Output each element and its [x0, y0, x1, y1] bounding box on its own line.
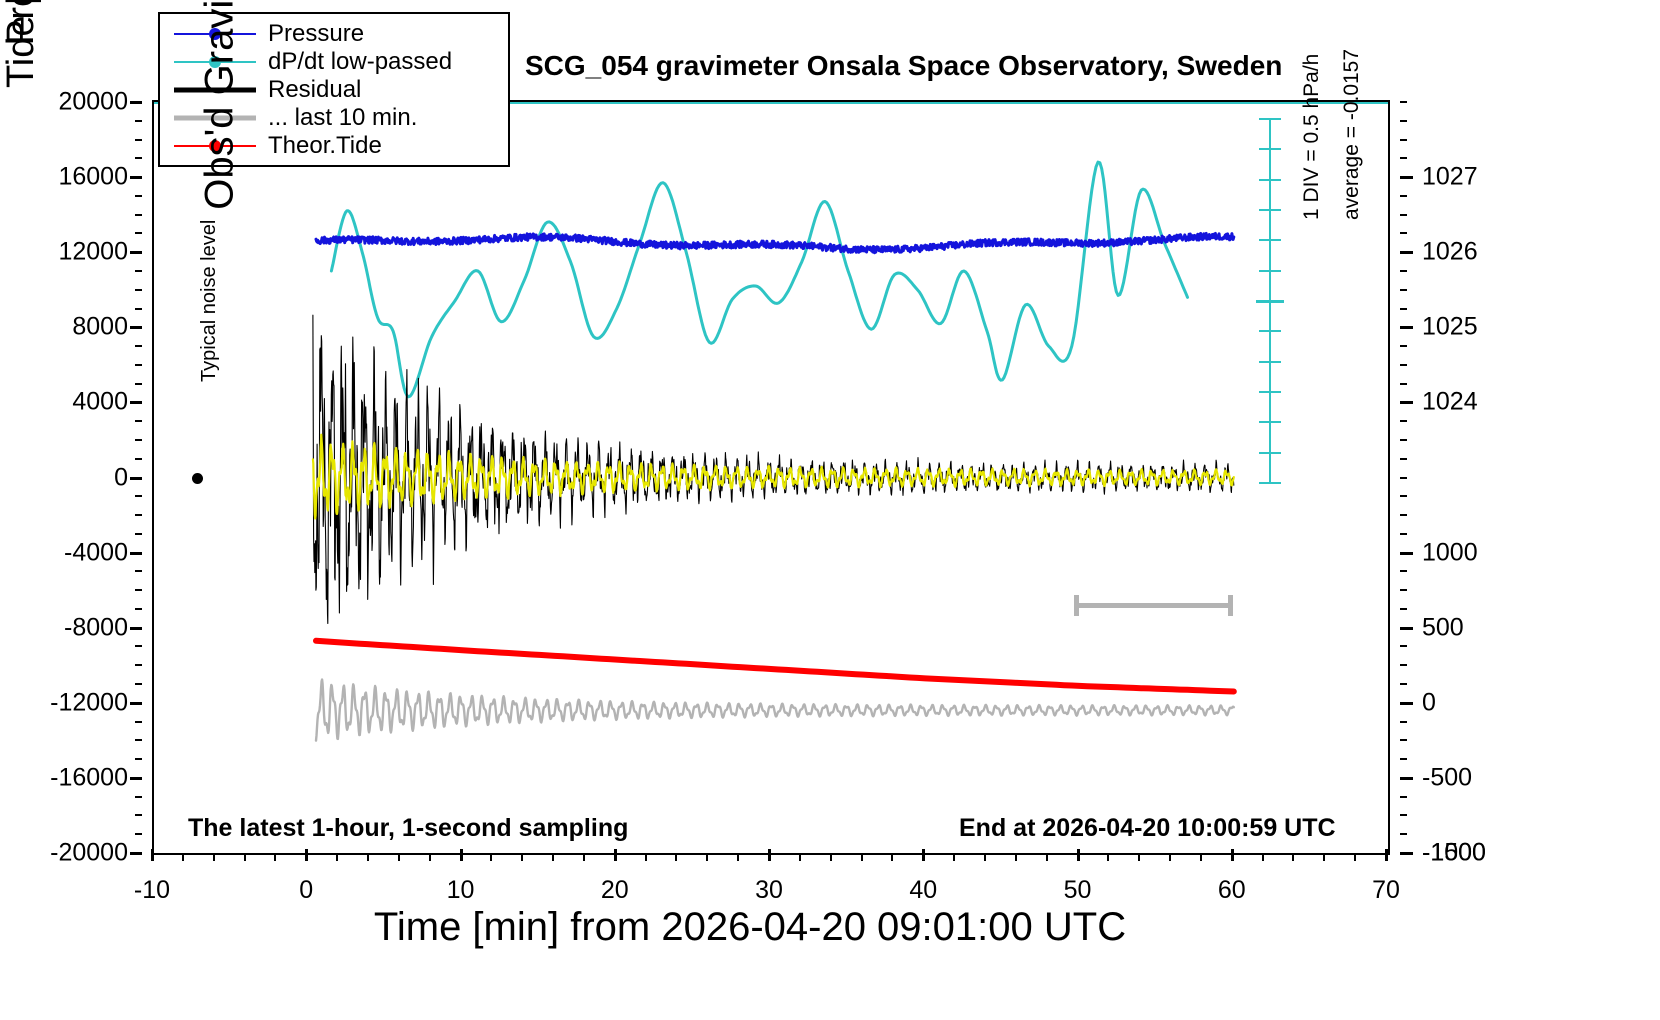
tide-tick-label: -500 [1422, 763, 1472, 792]
x-minor-tick [1323, 854, 1325, 861]
y-tick-mark [130, 251, 142, 254]
y-right-minor-tick [1400, 683, 1407, 685]
x-minor-tick [953, 854, 955, 861]
series-pressure [316, 233, 1234, 252]
legend-item-label: dP/dt low-passed [256, 48, 452, 76]
y-tick-mark [130, 627, 142, 630]
x-tick-label: 30 [755, 876, 783, 905]
x-tick-mark [151, 849, 154, 861]
legend-item-label: ... last 10 min. [256, 104, 417, 132]
x-minor-tick [274, 854, 276, 861]
y-axis-left-label: Obs'd Gravity [nm/s²] [198, 0, 243, 243]
x-minor-tick [706, 854, 708, 861]
dpdt-scale-tick [1259, 179, 1281, 181]
y-right-minor-tick [1400, 533, 1407, 535]
y-right-minor-tick [1400, 345, 1407, 347]
y-minor-tick [135, 270, 142, 272]
y-right-minor-tick [1400, 570, 1407, 572]
series-theoretical-tide [316, 641, 1234, 692]
y-tick-label: -4000 [64, 538, 128, 567]
dpdt-scale-tick [1259, 330, 1281, 332]
x-minor-tick [429, 854, 431, 861]
y-right-minor-tick [1400, 608, 1407, 610]
pressure-tick-label: 1026 [1422, 238, 1478, 267]
y-tick-mark [130, 552, 142, 555]
y-tick-mark [130, 477, 142, 480]
y-tick-mark [130, 101, 142, 104]
tide-tick-label: 500 [1422, 613, 1464, 642]
y-right-minor-tick [1400, 439, 1407, 441]
y-minor-tick [135, 232, 142, 234]
y-axis-left-ticks: 200001600012000800040000-4000-8000-12000… [0, 100, 142, 855]
y-right-minor-tick [1400, 195, 1407, 197]
x-tick-mark [1231, 849, 1234, 861]
pressure-tick-label: 1025 [1422, 313, 1478, 342]
y-right-minor-tick [1400, 758, 1407, 760]
y-right-minor-tick [1400, 589, 1407, 591]
y-right-minor-tick [1400, 477, 1407, 479]
x-tick-mark [768, 849, 771, 861]
y-minor-tick [135, 833, 142, 835]
dpdt-scale-tick [1259, 209, 1281, 211]
x-minor-tick [1015, 854, 1017, 861]
x-minor-tick [1046, 854, 1048, 861]
ten-minute-scale-bar [1074, 603, 1233, 608]
y-right-minor-tick [1400, 101, 1407, 103]
x-minor-tick [645, 854, 647, 861]
y-tick-mark [130, 852, 142, 855]
x-tick-label: 10 [447, 876, 475, 905]
y-tick-label: -12000 [50, 688, 128, 717]
pressure-tick-label: 1024 [1422, 388, 1478, 417]
x-tick-mark [922, 849, 925, 861]
series-canvas [154, 102, 1388, 853]
x-minor-tick [1262, 854, 1264, 861]
y-right-minor-tick [1400, 214, 1407, 216]
x-minor-tick [675, 854, 677, 861]
y-minor-tick [135, 608, 142, 610]
y-minor-tick [135, 439, 142, 441]
pressure-tick-label: 1027 [1422, 163, 1478, 192]
x-tick-label: 60 [1218, 876, 1246, 905]
y-tick-label: 0 [114, 463, 128, 492]
dpdt-scale-tick [1259, 270, 1281, 272]
y-minor-tick [135, 289, 142, 291]
y-right-minor-tick [1400, 383, 1407, 385]
x-minor-tick [891, 854, 893, 861]
x-minor-tick [1107, 854, 1109, 861]
x-minor-tick [490, 854, 492, 861]
series-dpdt-lowpassed [331, 162, 1187, 397]
legend-item-label: Pressure [256, 20, 364, 48]
y-right-minor-tick [1400, 289, 1407, 291]
y-minor-tick [135, 570, 142, 572]
dpdt-scale-tick [1259, 118, 1281, 120]
x-minor-tick [1169, 854, 1171, 861]
x-tick-mark [305, 849, 308, 861]
y-minor-tick [135, 739, 142, 741]
tide-tick-label: 1000 [1422, 538, 1478, 567]
dpdt-scale-tick [1259, 391, 1281, 393]
y-tick-label: 12000 [58, 238, 128, 267]
y-minor-tick [135, 120, 142, 122]
dpdt-scale-tick [1256, 300, 1284, 303]
y-right-minor-tick [1400, 120, 1407, 122]
y-right-minor-tick [1400, 157, 1407, 159]
legend-item-label: Residual [256, 76, 361, 104]
y-right-minor-tick [1400, 721, 1407, 723]
y-minor-tick [135, 645, 142, 647]
y-right-minor-tick [1400, 796, 1407, 798]
y-right-minor-tick [1400, 514, 1407, 516]
x-tick-label: 0 [299, 876, 313, 905]
x-minor-tick [336, 854, 338, 861]
end-time-note: End at 2026-04-20 10:00:59 UTC [959, 814, 1336, 843]
dpdt-scale-tick [1259, 361, 1281, 363]
y-tick-mark [130, 777, 142, 780]
y-minor-tick [135, 214, 142, 216]
y-axis-tide-label: Tide [nm/s²] [0, 0, 43, 88]
page-title: SCG_054 gravimeter Onsala Space Observat… [525, 50, 1282, 82]
y-minor-tick [135, 664, 142, 666]
x-minor-tick [799, 854, 801, 861]
y-minor-tick [135, 139, 142, 141]
x-minor-tick [367, 854, 369, 861]
y-right-minor-tick [1400, 495, 1407, 497]
y-right-minor-tick [1400, 645, 1407, 647]
x-tick-label: 50 [1064, 876, 1092, 905]
typical-noise-dot [192, 473, 203, 484]
x-minor-tick [984, 854, 986, 861]
y-tick-label: 16000 [58, 163, 128, 192]
tide-tick-label: -1500 [1422, 839, 1486, 868]
legend-item-label: Theor.Tide [256, 132, 382, 160]
y-right-minor-tick [1400, 364, 1407, 366]
y-right-minor-tick [1400, 401, 1407, 403]
y-right-minor-tick [1400, 176, 1407, 178]
y-tick-label: 4000 [72, 388, 128, 417]
y-right-minor-tick [1400, 420, 1407, 422]
y-minor-tick [135, 195, 142, 197]
dpdt-scale-division-label: 1 DIV = 0.5 hPa/h [1300, 54, 1324, 220]
y-minor-tick [135, 345, 142, 347]
y-right-minor-tick [1400, 664, 1407, 666]
y-minor-tick [135, 796, 142, 798]
dpdt-scale-bar [1269, 118, 1271, 482]
y-minor-tick [135, 458, 142, 460]
y-minor-tick [135, 514, 142, 516]
x-minor-tick [861, 854, 863, 861]
x-minor-tick [1354, 854, 1356, 861]
x-tick-label: 20 [601, 876, 629, 905]
y-minor-tick [135, 383, 142, 385]
x-minor-tick [552, 854, 554, 861]
y-minor-tick [135, 533, 142, 535]
x-axis-ticks: -10010203040506070 [152, 862, 1390, 902]
x-minor-tick [244, 854, 246, 861]
y-right-minor-tick [1400, 702, 1407, 704]
y-axis-right-ticks: 102710261025102410005000-500-1000-1500 [1400, 100, 1520, 855]
y-tick-mark [130, 326, 142, 329]
y-tick-label: -8000 [64, 613, 128, 642]
x-minor-tick [1292, 854, 1294, 861]
x-tick-label: 70 [1372, 876, 1400, 905]
y-tick-label: -16000 [50, 763, 128, 792]
dpdt-scale-tick [1259, 239, 1281, 241]
y-right-minor-tick [1400, 777, 1407, 779]
dpdt-scale-tick [1259, 482, 1281, 484]
y-minor-tick [135, 308, 142, 310]
x-tick-mark [1385, 849, 1388, 861]
x-minor-tick [583, 854, 585, 861]
dpdt-scale-tick [1259, 148, 1281, 150]
y-right-minor-tick [1400, 814, 1407, 816]
y-right-minor-tick [1400, 270, 1407, 272]
y-right-minor-tick [1400, 326, 1407, 328]
y-tick-mark [130, 702, 142, 705]
y-right-minor-tick [1400, 232, 1407, 234]
tide-tick-label: 0 [1422, 688, 1436, 717]
y-tick-mark [130, 176, 142, 179]
y-minor-tick [135, 683, 142, 685]
x-minor-tick [521, 854, 523, 861]
y-minor-tick [135, 495, 142, 497]
y-tick-label: 20000 [58, 88, 128, 117]
y-right-minor-tick [1400, 627, 1407, 629]
y-right-minor-tick [1400, 308, 1407, 310]
x-minor-tick [182, 854, 184, 861]
y-minor-tick [135, 721, 142, 723]
x-tick-label: 40 [909, 876, 937, 905]
y-minor-tick [135, 420, 142, 422]
x-minor-tick [1200, 854, 1202, 861]
y-right-minor-tick [1400, 458, 1407, 460]
x-tick-mark [460, 849, 463, 861]
x-minor-tick [398, 854, 400, 861]
y-right-minor-tick [1400, 833, 1407, 835]
y-tick-label: -20000 [50, 839, 128, 868]
y-minor-tick [135, 814, 142, 816]
x-axis-label: Time [min] from 2026-04-20 09:01:00 UTC [0, 905, 1500, 950]
x-tick-label: -10 [134, 876, 170, 905]
x-minor-tick [737, 854, 739, 861]
x-minor-tick [213, 854, 215, 861]
x-tick-mark [1077, 849, 1080, 861]
y-right-minor-tick [1400, 852, 1407, 854]
x-tick-mark [614, 849, 617, 861]
y-minor-tick [135, 758, 142, 760]
dpdt-average-label: average = -0.0157 [1340, 49, 1364, 220]
dpdt-scale-tick [1259, 421, 1281, 423]
typical-noise-label: Typical noise level [198, 220, 221, 382]
y-tick-mark [130, 401, 142, 404]
y-right-minor-tick [1400, 552, 1407, 554]
y-minor-tick [135, 364, 142, 366]
x-minor-tick [1138, 854, 1140, 861]
x-minor-tick [830, 854, 832, 861]
y-right-minor-tick [1400, 251, 1407, 253]
y-right-minor-tick [1400, 139, 1407, 141]
y-right-minor-tick [1400, 739, 1407, 741]
y-tick-label: 8000 [72, 313, 128, 342]
dpdt-scale-tick [1259, 452, 1281, 454]
y-minor-tick [135, 589, 142, 591]
plot-area: Typical noise level The latest 1-hour, 1… [152, 100, 1390, 855]
sampling-note: The latest 1-hour, 1-second sampling [188, 814, 628, 843]
y-minor-tick [135, 157, 142, 159]
